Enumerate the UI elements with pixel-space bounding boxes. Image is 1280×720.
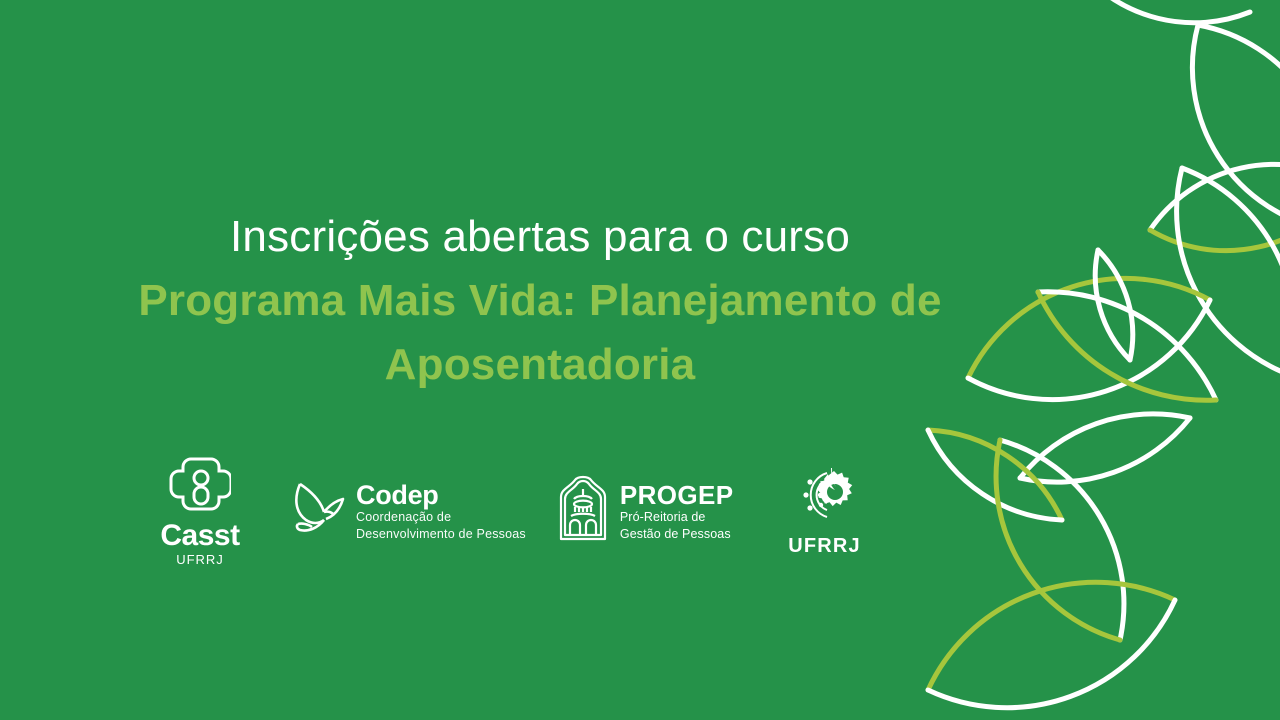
headline-line-2: Programa Mais Vida: Planejamento de Apos… — [90, 269, 990, 397]
logo-strip: Casst UFRRJ Codep Coordenação de Desenvo… — [140, 455, 880, 568]
logo-ufrrj: UFRRJ — [770, 466, 880, 558]
leaf-cluster-bottom — [928, 414, 1190, 708]
logo-progep: PROGEP Pró-Reitoria de Gestão de Pessoas — [558, 475, 734, 548]
cross-circle-icon — [169, 455, 231, 518]
logo-codep-name: Codep — [356, 481, 526, 509]
leaf-cluster-top — [1080, 0, 1280, 375]
logo-progep-subtitle-line-1: Pró-Reitoria de — [620, 509, 734, 526]
dove-icon — [288, 478, 346, 545]
leaf-cluster-middle — [968, 250, 1216, 400]
logo-codep: Codep Coordenação de Desenvolvimento de … — [288, 478, 526, 545]
logo-casst-subtitle: UFRRJ — [176, 552, 224, 569]
logo-codep-subtitle-line-1: Coordenação de — [356, 509, 526, 526]
logo-codep-subtitle-line-2: Desenvolvimento de Pessoas — [356, 526, 526, 543]
logo-casst-name: Casst — [160, 520, 239, 552]
gear-plant-icon — [794, 466, 856, 529]
logo-progep-name: PROGEP — [620, 481, 734, 510]
headline-line-1: Inscrições abertas para o curso — [90, 205, 990, 269]
presentation-slide: Inscrições abertas para o curso Programa… — [0, 0, 1280, 720]
logo-casst: Casst UFRRJ — [140, 455, 260, 568]
headline-block: Inscrições abertas para o curso Programa… — [90, 205, 990, 396]
pavilion-shield-icon — [558, 475, 608, 548]
logo-ufrrj-name: UFRRJ — [788, 535, 861, 558]
logo-progep-subtitle-line-2: Gestão de Pessoas — [620, 526, 734, 543]
